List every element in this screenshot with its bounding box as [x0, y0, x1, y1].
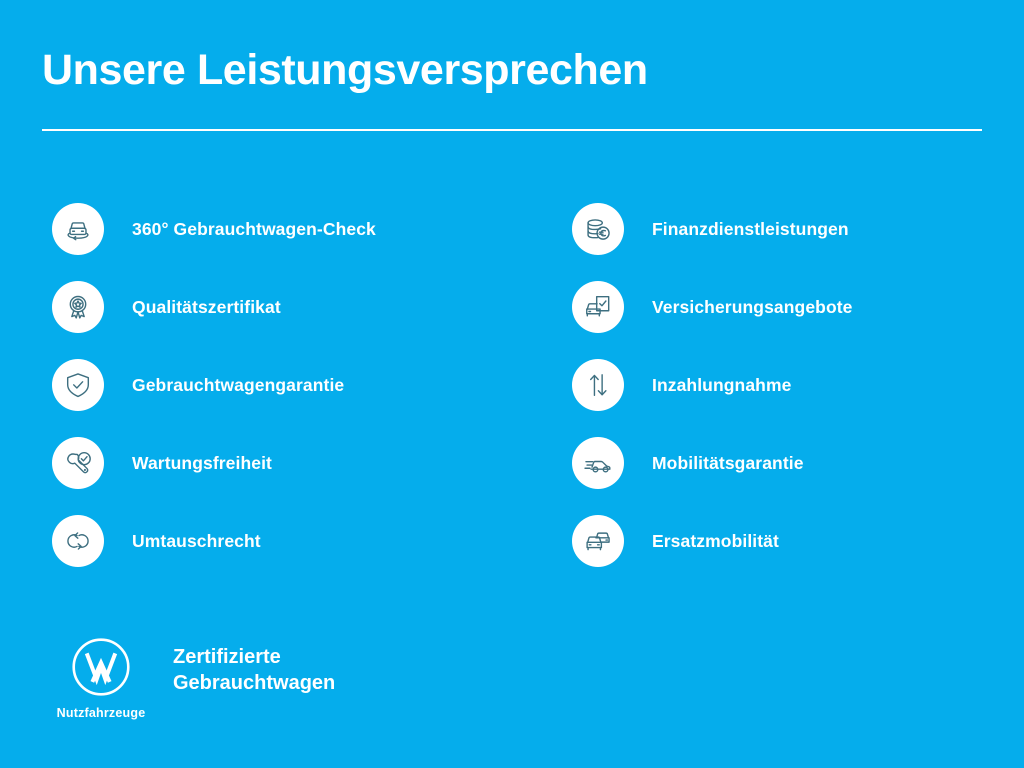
- brand-subtitle: Nutzfahrzeuge: [57, 706, 146, 720]
- volkswagen-roundel-icon: [70, 636, 132, 698]
- benefit-label: Finanzdienstleistungen: [652, 219, 849, 240]
- benefits-column-right: Finanzdienstleistungen Versicherungsange…: [572, 203, 992, 567]
- benefit-item[interactable]: Umtauschrecht: [52, 515, 522, 567]
- header: Unsere Leistungsversprechen: [42, 48, 982, 93]
- benefit-item[interactable]: 360° Gebrauchtwagen-Check: [52, 203, 522, 255]
- brand-claim-line1: Zertifizierte: [173, 645, 335, 671]
- benefit-label: Gebrauchtwagengarantie: [132, 375, 344, 396]
- benefit-item[interactable]: Inzahlungnahme: [572, 359, 992, 411]
- header-divider: [42, 129, 982, 131]
- award-rosette-icon: [52, 281, 104, 333]
- benefit-item[interactable]: Ersatzmobilität: [572, 515, 992, 567]
- benefit-item[interactable]: Qualitätszertifikat: [52, 281, 522, 333]
- benefit-label: Inzahlungnahme: [652, 375, 791, 396]
- slide-root: Unsere Leistungsversprechen 360° Gebrauc…: [0, 0, 1024, 768]
- page-title: Unsere Leistungsversprechen: [42, 48, 982, 93]
- car-360-check-icon: [52, 203, 104, 255]
- brand-claim-line2: Gebrauchtwagen: [173, 671, 335, 697]
- footer-brand-lockup: Nutzfahrzeuge Zertifizierte Gebrauchtwag…: [42, 636, 335, 720]
- benefit-label: Qualitätszertifikat: [132, 297, 281, 318]
- car-motion-icon: [572, 437, 624, 489]
- benefit-label: Versicherungsangebote: [652, 297, 853, 318]
- brand-claim: Zertifizierte Gebrauchtwagen: [173, 645, 335, 696]
- benefit-label: Mobilitätsgarantie: [652, 453, 804, 474]
- exchange-arrows-icon: [52, 515, 104, 567]
- brand-mark: Nutzfahrzeuge: [42, 636, 160, 720]
- wrench-check-icon: [52, 437, 104, 489]
- benefit-item[interactable]: Gebrauchtwagengarantie: [52, 359, 522, 411]
- benefit-item[interactable]: Finanzdienstleistungen: [572, 203, 992, 255]
- arrows-up-down-icon: [572, 359, 624, 411]
- shield-check-icon: [52, 359, 104, 411]
- benefit-item[interactable]: Versicherungsangebote: [572, 281, 992, 333]
- benefits-section: 360° Gebrauchtwagen-Check Qualitätszerti…: [0, 203, 1024, 567]
- benefit-item[interactable]: Wartungsfreiheit: [52, 437, 522, 489]
- benefit-label: 360° Gebrauchtwagen-Check: [132, 219, 376, 240]
- benefit-label: Umtauschrecht: [132, 531, 261, 552]
- benefit-label: Ersatzmobilität: [652, 531, 779, 552]
- benefit-item[interactable]: Mobilitätsgarantie: [572, 437, 992, 489]
- coins-euro-icon: [572, 203, 624, 255]
- car-document-check-icon: [572, 281, 624, 333]
- two-cars-icon: [572, 515, 624, 567]
- benefits-column-left: 360° Gebrauchtwagen-Check Qualitätszerti…: [52, 203, 522, 567]
- benefit-label: Wartungsfreiheit: [132, 453, 272, 474]
